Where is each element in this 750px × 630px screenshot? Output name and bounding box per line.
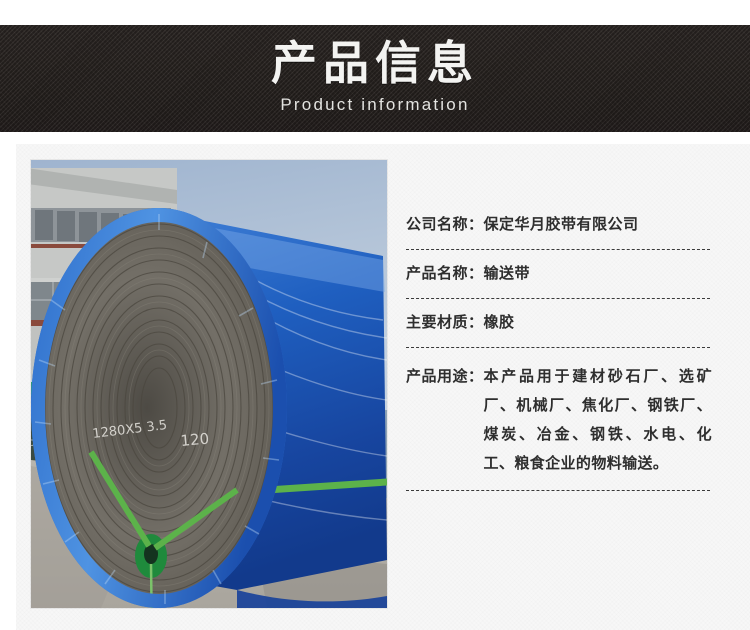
page-title-en: Product information bbox=[0, 89, 750, 115]
info-label-usage: 产品用途： bbox=[406, 362, 484, 391]
info-value-company: 保定华月胶带有限公司 bbox=[484, 214, 712, 234]
info-row-company: 公司名称： 保定华月胶带有限公司 bbox=[406, 205, 712, 249]
product-info-list: 公司名称： 保定华月胶带有限公司 产品名称： 输送带 主要材质： 橡胶 产品用途… bbox=[406, 205, 712, 491]
header-text-group: 产品信息 Product information bbox=[0, 25, 750, 115]
info-row-material: 主要材质： 橡胶 bbox=[406, 299, 712, 347]
product-photo-image: 00M bbox=[31, 160, 387, 608]
info-row-product-name: 产品名称： 输送带 bbox=[406, 250, 712, 298]
belt-marking-2: 120 bbox=[180, 430, 210, 450]
info-value-material: 橡胶 bbox=[484, 312, 712, 332]
product-information-page: 产品信息 Product information bbox=[0, 0, 750, 630]
info-separator-4 bbox=[406, 490, 710, 491]
info-label-material: 主要材质： bbox=[406, 312, 484, 332]
belt-roll-face: 1280X5 3.5 120 bbox=[31, 208, 287, 608]
info-row-usage: 产品用途： 本产品用于建材砂石厂、选矿厂、机械厂、焦化厂、钢铁厂、煤炭、冶金、钢… bbox=[406, 348, 712, 490]
product-photo: 00M bbox=[31, 160, 387, 608]
info-value-usage: 本产品用于建材砂石厂、选矿厂、机械厂、焦化厂、钢铁厂、煤炭、冶金、钢铁、水电、化… bbox=[484, 362, 712, 478]
info-label-product-name: 产品名称： bbox=[406, 263, 484, 283]
info-label-company: 公司名称： bbox=[406, 214, 484, 234]
page-title-cn: 产品信息 bbox=[0, 25, 750, 89]
info-value-product-name: 输送带 bbox=[484, 263, 712, 283]
page-header-band: 产品信息 Product information bbox=[0, 25, 750, 132]
